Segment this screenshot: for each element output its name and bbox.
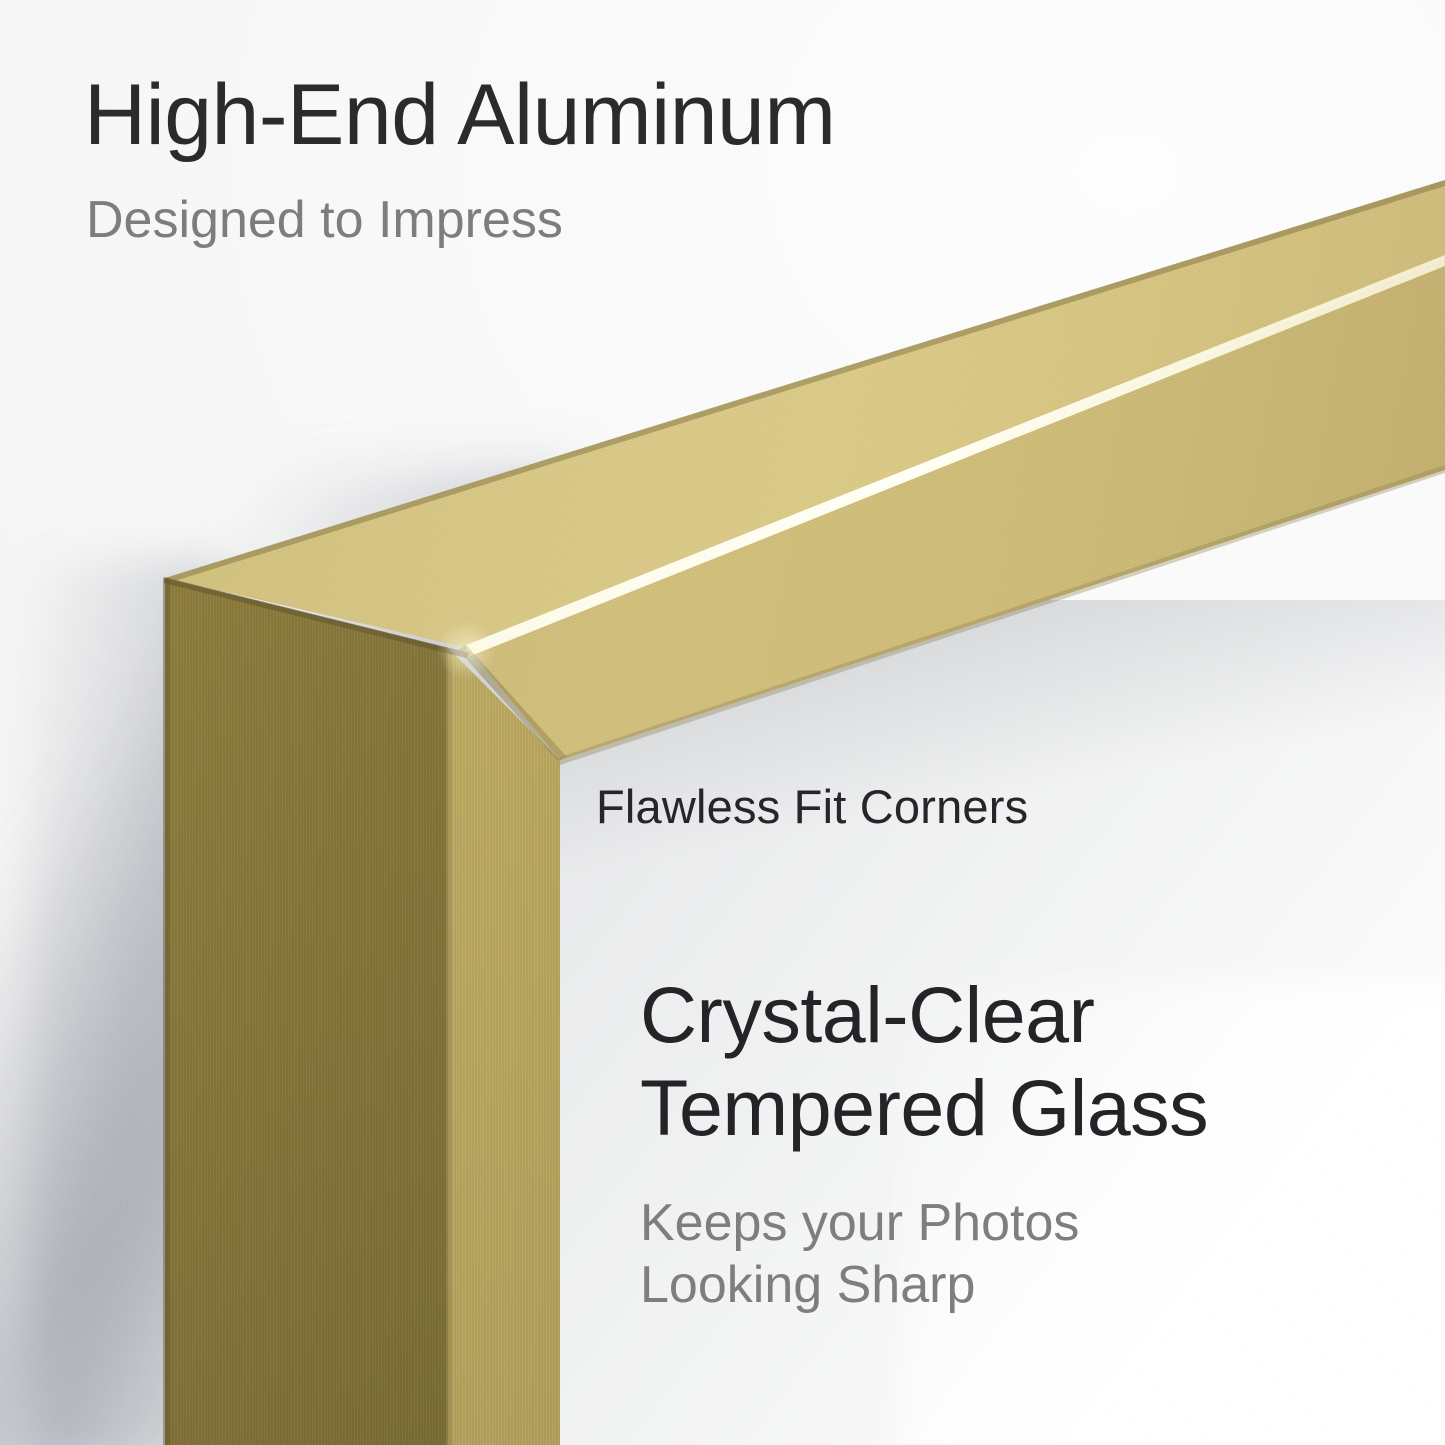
page-title: High-End Aluminum xyxy=(84,66,836,165)
callout-tempered-glass-title-line2: Tempered Glass xyxy=(640,1061,1208,1154)
frame-corner-apex-highlight xyxy=(436,620,496,680)
callout-tempered-glass-subtitle-line1: Keeps your Photos xyxy=(640,1192,1079,1254)
callout-tempered-glass-title-line1: Crystal-Clear xyxy=(640,968,1208,1061)
callout-tempered-glass-subtitle: Keeps your Photos Looking Sharp xyxy=(640,1192,1079,1317)
callout-tempered-glass-subtitle-line2: Looking Sharp xyxy=(640,1254,1079,1316)
product-feature-graphic: High-End Aluminum Designed to Impress Fl… xyxy=(0,0,1445,1445)
callout-tempered-glass-title: Crystal-Clear Tempered Glass xyxy=(640,968,1208,1154)
page-subtitle: Designed to Impress xyxy=(86,190,563,250)
callout-flawless-fit-corners: Flawless Fit Corners xyxy=(596,779,1028,834)
